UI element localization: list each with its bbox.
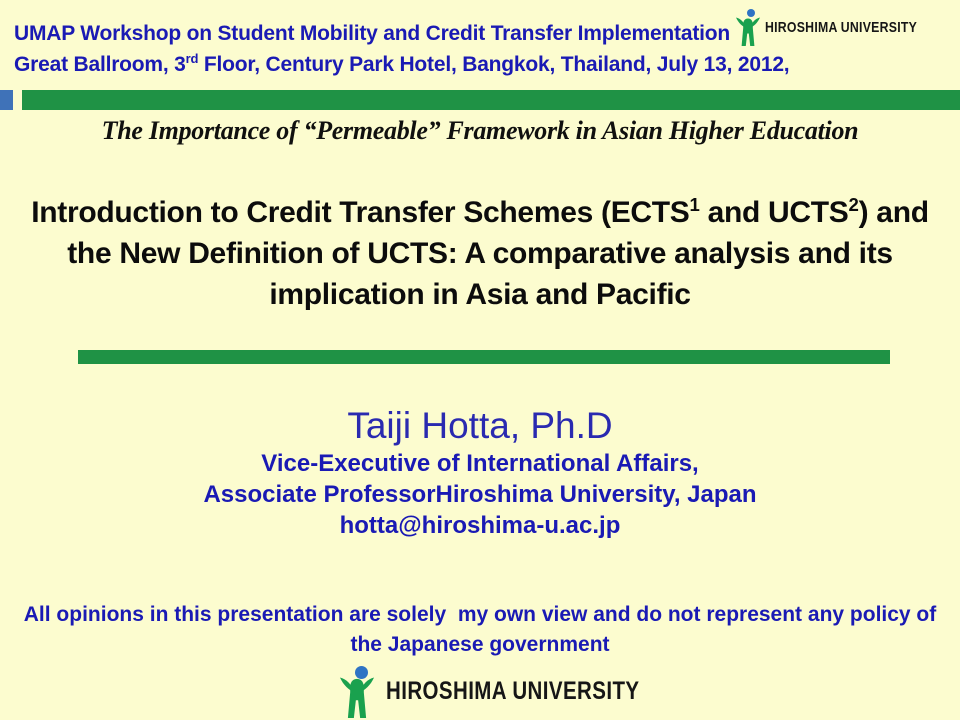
header-accent-square	[0, 90, 13, 110]
event-header: UMAP Workshop on Student Mobility and Cr…	[14, 18, 804, 80]
author-role: Vice-Executive of International Affairs,	[0, 448, 960, 479]
event-header-line-1: UMAP Workshop on Student Mobility and Cr…	[14, 18, 804, 49]
presentation-slide: UMAP Workshop on Student Mobility and Cr…	[0, 0, 960, 720]
event-venue-text-b: Floor, Century Park Hotel, Bangkok, Thai…	[198, 53, 789, 76]
author-name: Taiji Hotta, Ph.D	[0, 404, 960, 448]
header-university-logo: HIROSHIMA UNIVERSITY	[735, 8, 950, 46]
disclaimer-text: All opinions in this presentation are so…	[20, 600, 940, 660]
author-affiliation: Associate ProfessorHiroshima University,…	[0, 479, 960, 510]
footer-university-logo: HIROSHIMA UNIVERSITY	[336, 664, 695, 718]
footer-university-wordmark: HIROSHIMA UNIVERSITY	[386, 677, 639, 706]
hiroshima-university-figure-icon	[336, 664, 378, 718]
header-divider-bar	[22, 90, 960, 110]
page-title: Introduction to Credit Transfer Schemes …	[10, 192, 950, 315]
author-email[interactable]: hotta@hiroshima-u.ac.jp	[0, 510, 960, 541]
hiroshima-university-figure-icon	[735, 8, 761, 46]
event-title-text: UMAP Workshop on Student Mobility and Cr…	[14, 22, 730, 45]
footnote-marker-2: 2	[849, 194, 859, 215]
event-venue-text-a: Great Ballroom, 3	[14, 53, 186, 76]
figure-body-icon	[336, 664, 378, 718]
header-university-wordmark: HIROSHIMA UNIVERSITY	[765, 19, 917, 36]
ordinal-suffix: rd	[186, 51, 199, 66]
author-block: Taiji Hotta, Ph.D Vice-Executive of Inte…	[0, 404, 960, 541]
title-part-1: Introduction to Credit Transfer Schemes …	[31, 196, 689, 229]
event-header-line-2: Great Ballroom, 3rd Floor, Century Park …	[14, 49, 804, 80]
slide-subtitle: The Importance of “Permeable” Framework …	[0, 116, 960, 146]
title-divider-bar	[78, 350, 890, 364]
figure-body-icon	[735, 8, 761, 46]
footnote-marker-1: 1	[690, 194, 700, 215]
title-part-2: and UCTS	[700, 196, 849, 229]
